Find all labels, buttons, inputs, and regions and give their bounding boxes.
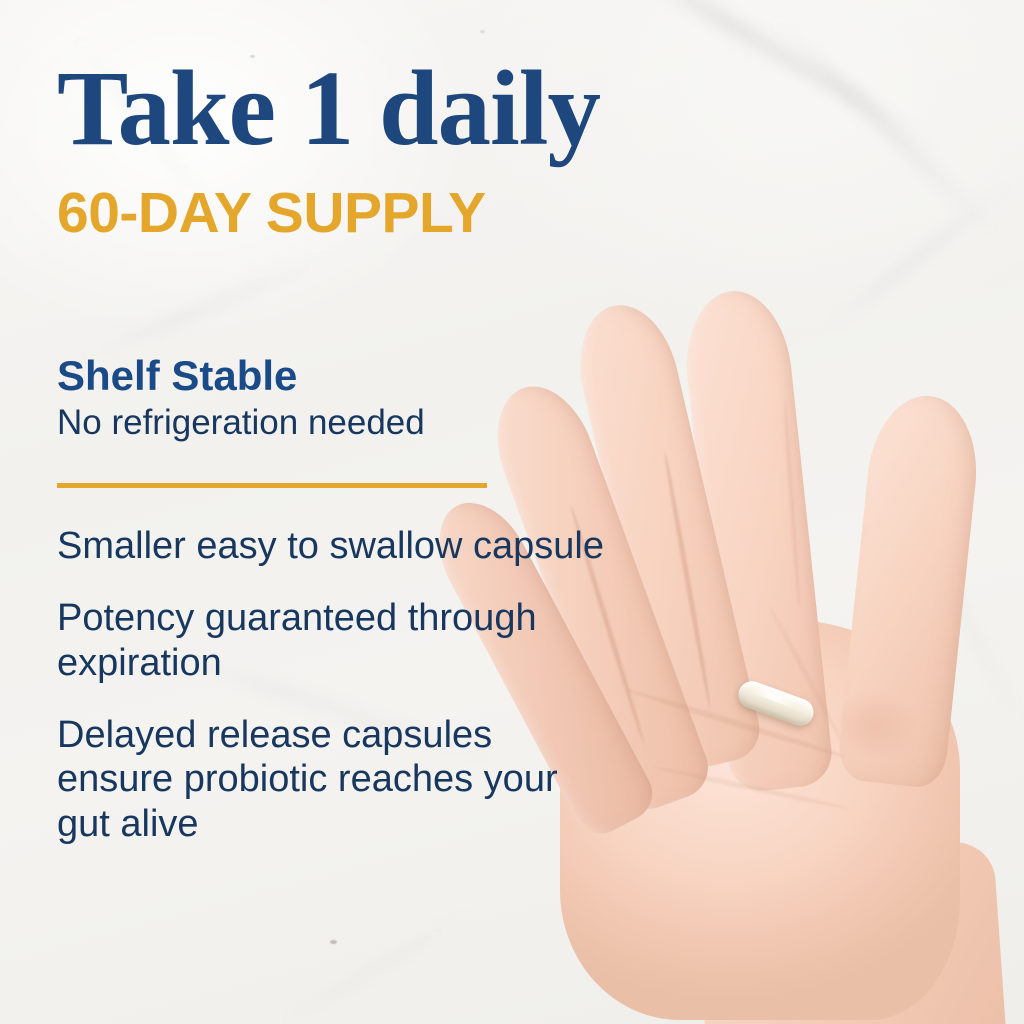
feature-title-shelf-stable: Shelf Stable [57, 354, 677, 398]
marble-fleck [330, 940, 337, 944]
text-column: Take 1 daily 60-DAY SUPPLY Shelf Stable … [57, 0, 677, 846]
marble-vein [265, 896, 496, 1024]
list-item: Potency guaranteed through expiration [57, 596, 617, 685]
gold-divider-rule [57, 483, 487, 488]
supply-duration-subheadline: 60-DAY SUPPLY [57, 185, 677, 242]
list-item: Delayed release capsules ensure probioti… [57, 713, 617, 846]
product-marketing-image: Take 1 daily 60-DAY SUPPLY Shelf Stable … [0, 0, 1024, 1024]
feature-subtitle-no-refrigeration: No refrigeration needed [57, 404, 677, 443]
list-item: Smaller easy to swallow capsule [57, 524, 617, 568]
page-title: Take 1 daily [57, 0, 677, 163]
thumb-knuckle [830, 690, 920, 760]
benefit-list: Smaller easy to swallow capsule Potency … [57, 524, 677, 847]
